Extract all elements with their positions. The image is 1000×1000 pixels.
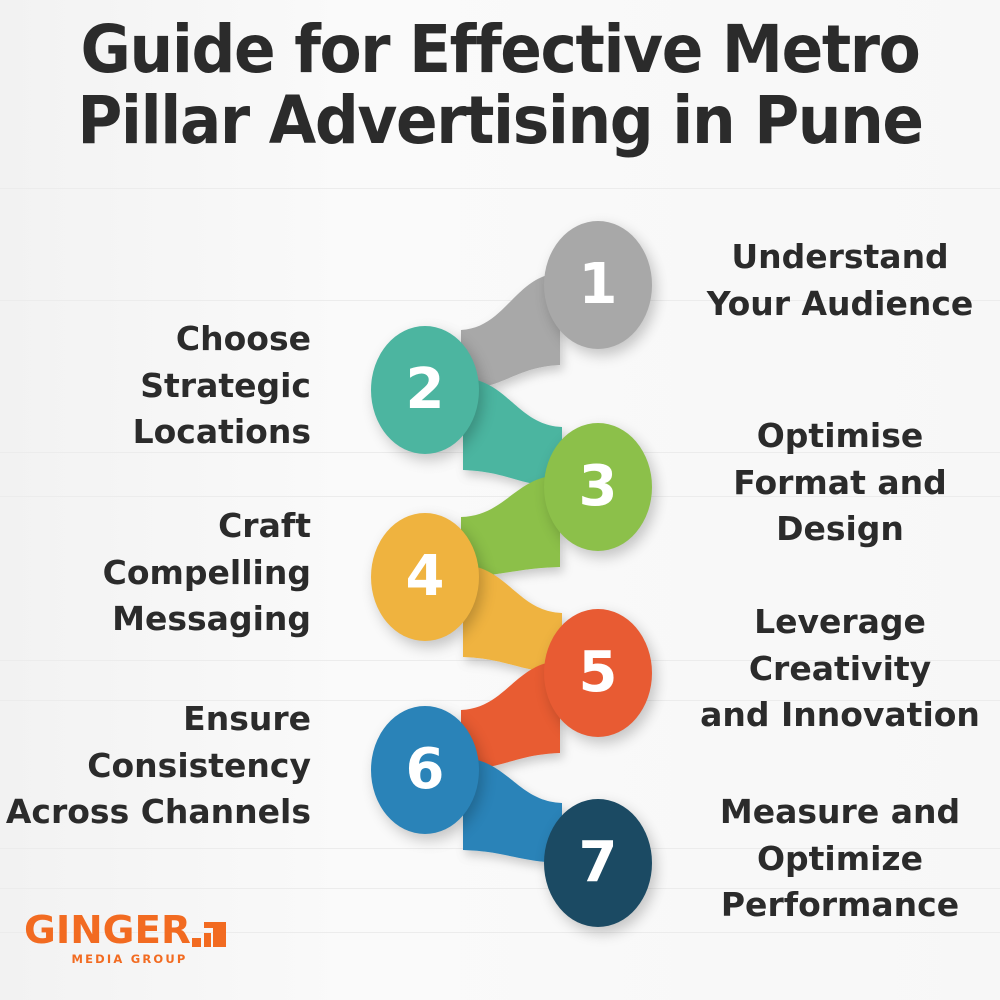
step-node-4[interactable]: 4	[371, 513, 479, 641]
step-node-5[interactable]: 5	[544, 609, 652, 737]
step-node-3[interactable]: 3	[544, 423, 652, 551]
connector-ribbons	[0, 0, 1000, 1000]
step-node-7[interactable]: 7	[544, 799, 652, 927]
step-node-2[interactable]: 2	[371, 326, 479, 454]
step-node-1[interactable]: 1	[544, 221, 652, 349]
infographic-stage: 1234567 Understand Your AudienceChoose S…	[0, 0, 1000, 1000]
step-node-6[interactable]: 6	[371, 706, 479, 834]
